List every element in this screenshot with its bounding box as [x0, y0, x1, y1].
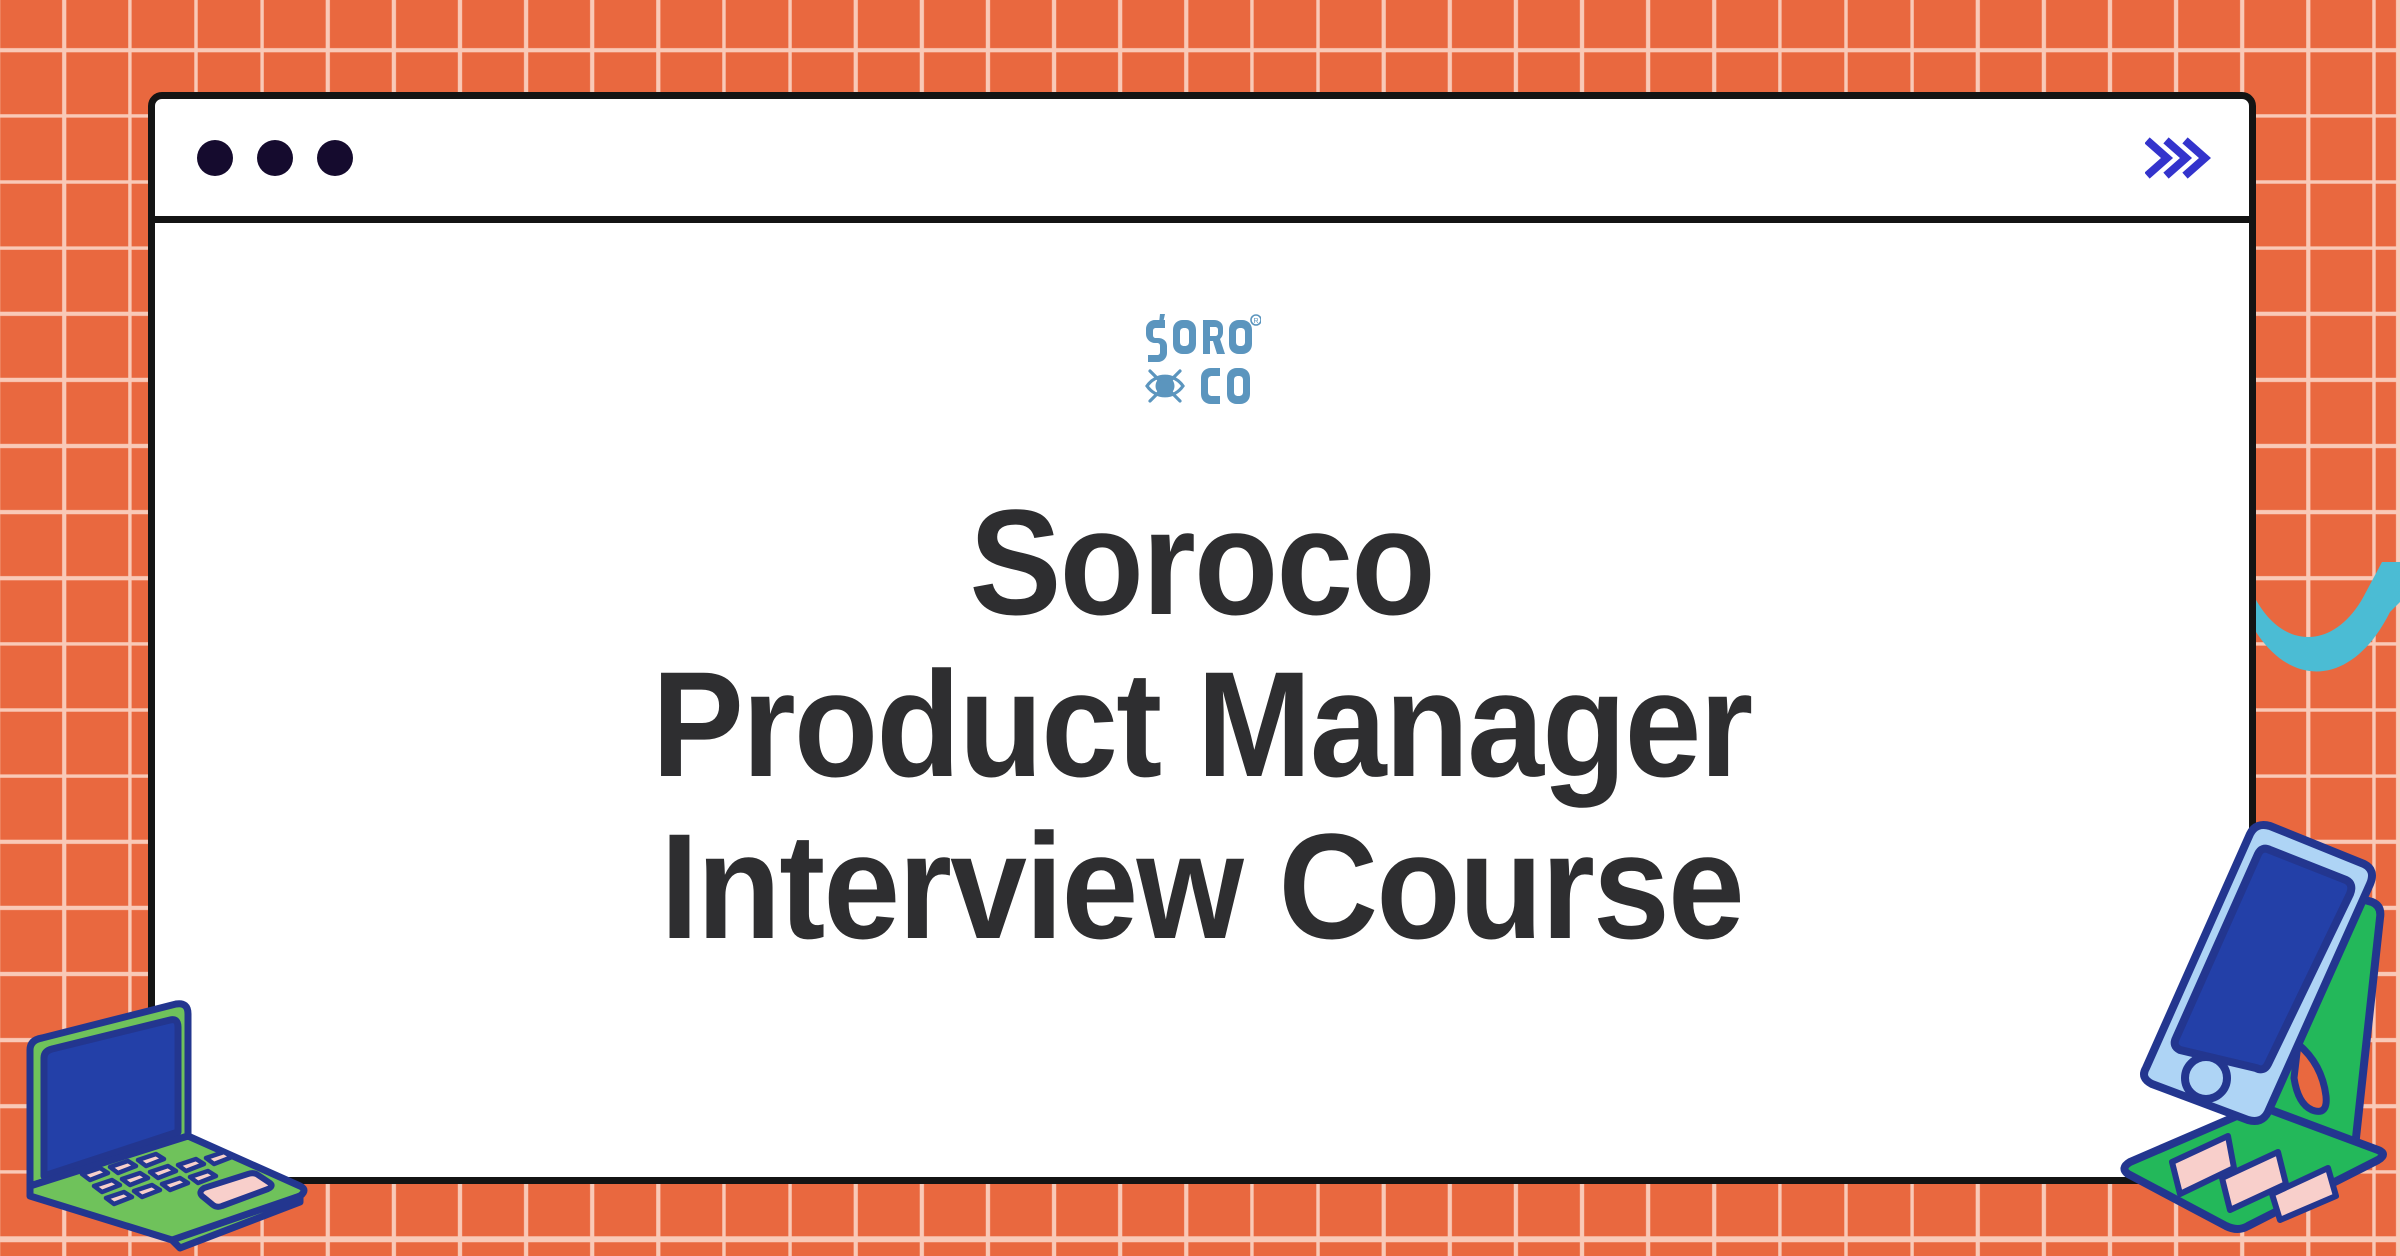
page-title-line-2: Product Manager: [652, 643, 1752, 805]
page-title: Soroco Product Manager Interview Course: [652, 481, 1752, 967]
window-close-dot-icon[interactable]: [197, 140, 233, 176]
page-title-line-1: Soroco: [652, 481, 1752, 643]
svg-text:R: R: [1253, 318, 1258, 325]
window-minimize-dot-icon[interactable]: [257, 140, 293, 176]
browser-window: R Soroco Product Manager Interview Cour: [148, 92, 2256, 1184]
traffic-light-dots: [197, 140, 353, 176]
window-maximize-dot-icon[interactable]: [317, 140, 353, 176]
double-chevron-right-icon[interactable]: [2145, 136, 2211, 180]
window-content: R Soroco Product Manager Interview Cour: [155, 223, 2249, 1170]
slide-canvas: R Soroco Product Manager Interview Cour: [0, 0, 2400, 1256]
soroco-logo-icon: R: [1143, 311, 1261, 407]
window-titlebar: [155, 99, 2249, 223]
page-title-line-3: Interview Course: [652, 805, 1752, 967]
